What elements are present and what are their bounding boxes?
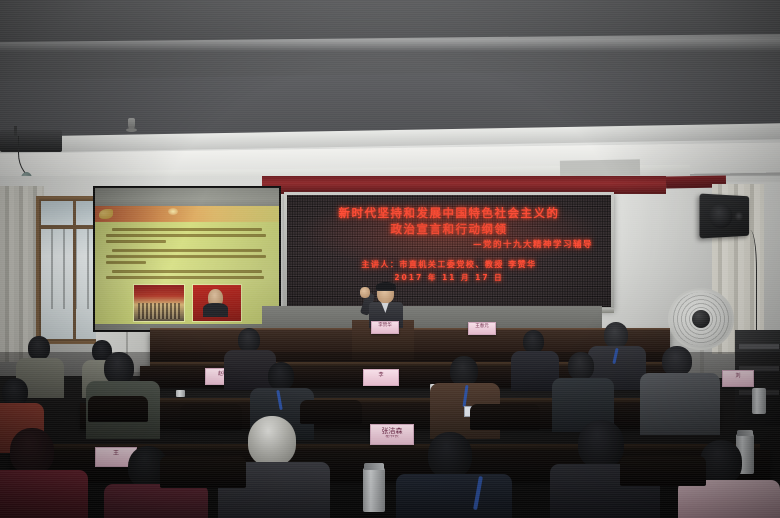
photo-scene: 新时代坚持和发展中国特色社会主义的 政治宣言和行动纲领 —党的十九大精神学习辅导… xyxy=(0,0,780,518)
table-name-card-highlight: 张洁森 秘书长 xyxy=(370,424,414,445)
person-torso xyxy=(104,484,208,518)
projection-screen-shading xyxy=(95,188,279,330)
water-bottle[interactable] xyxy=(752,388,766,414)
person-torso xyxy=(0,470,88,518)
fire-sprinkler-icon xyxy=(128,118,135,130)
rack-shelf xyxy=(739,344,779,349)
speaker-tweeter-icon xyxy=(734,211,743,221)
person-head xyxy=(428,432,472,478)
led-title-line-2: 政治宣言和行动纲领 xyxy=(287,221,611,237)
person-head xyxy=(450,356,478,386)
projector-mount xyxy=(14,126,17,136)
person-head xyxy=(28,336,50,360)
person-head xyxy=(268,362,294,390)
ceiling-vent-panel xyxy=(560,159,640,176)
person-head xyxy=(2,378,28,406)
speaker-woofer-icon xyxy=(709,203,732,228)
table-name-card: 李 xyxy=(363,369,399,386)
fan-hub xyxy=(692,310,710,328)
person-head-grey-hair xyxy=(248,416,296,466)
led-banner-screen: 新时代坚持和发展中国特色社会主义的 政治宣言和行动纲领 —党的十九大精神学习辅导… xyxy=(287,195,611,307)
led-date: 2017 年 11 月 17 日 xyxy=(287,272,611,283)
person-head xyxy=(523,330,544,353)
chair[interactable] xyxy=(88,396,148,422)
drinking-cup[interactable] xyxy=(176,390,185,397)
chair[interactable] xyxy=(160,456,246,488)
chair[interactable] xyxy=(620,456,706,486)
person-head xyxy=(568,352,594,380)
head-table-name-card: 王春元 xyxy=(468,322,496,335)
person-head xyxy=(10,428,54,474)
person-head xyxy=(700,440,742,484)
led-title-line-1: 新时代坚持和发展中国特色社会主义的 xyxy=(287,205,611,221)
window-mullion xyxy=(41,225,99,229)
led-presenter: 主讲人：市直机关工委党校、教授 李赞华 xyxy=(287,259,611,270)
person-head xyxy=(604,322,628,348)
person-torso xyxy=(396,474,512,518)
chair[interactable] xyxy=(470,404,540,430)
person-head xyxy=(578,420,624,468)
bottle-cap[interactable] xyxy=(737,430,753,436)
speaker-hand xyxy=(360,287,370,298)
chair[interactable] xyxy=(180,404,242,430)
window-mullion xyxy=(73,201,76,339)
bottle-cap[interactable] xyxy=(364,463,384,470)
person-torso xyxy=(640,373,720,435)
table-name-card: 刘 xyxy=(722,370,754,387)
podium-name-card: 李赞华 xyxy=(371,321,399,334)
glasses-icon xyxy=(377,290,394,295)
chair[interactable] xyxy=(300,400,362,424)
window-security-bars xyxy=(41,229,99,309)
speaker-cable xyxy=(740,230,757,330)
person-head xyxy=(238,328,260,352)
water-bottle[interactable] xyxy=(363,468,385,512)
led-subtitle: —党的十九大精神学习辅导 xyxy=(287,238,611,250)
person-head xyxy=(662,346,692,376)
person-head xyxy=(104,352,134,384)
